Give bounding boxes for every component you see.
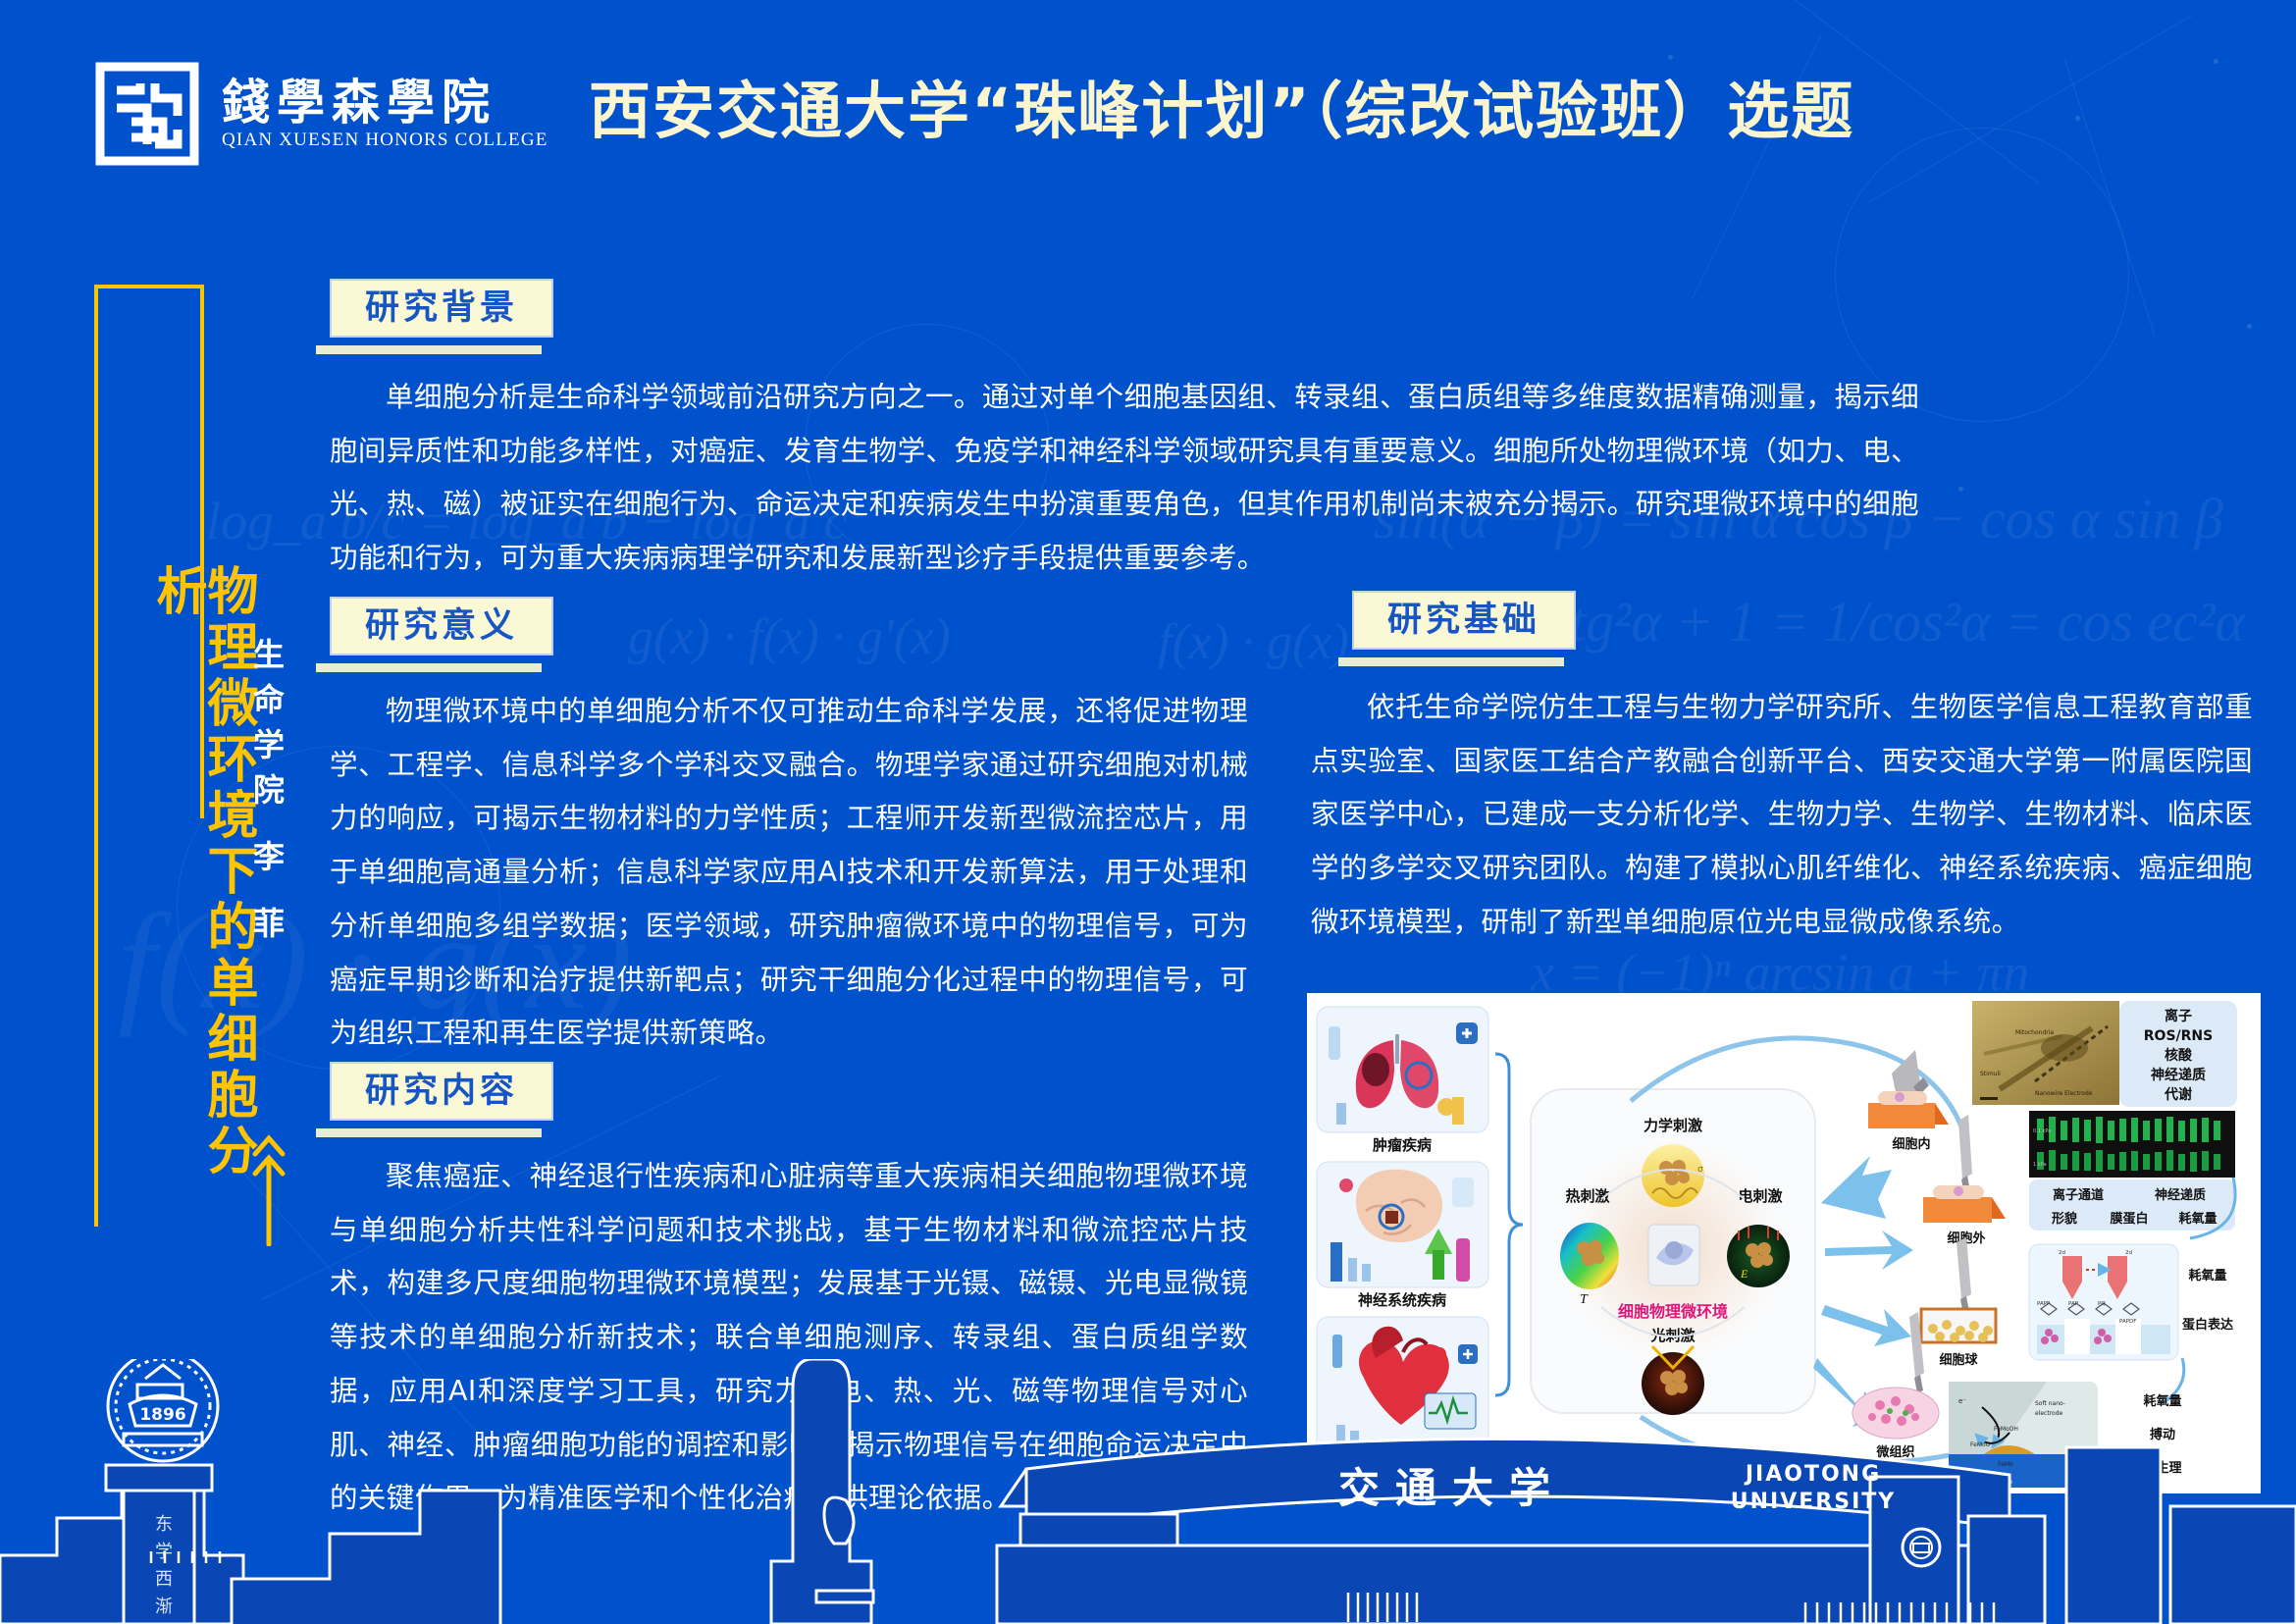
micrograph-extracellular: 0.1 kPa 1 kPa [2029,1111,2235,1178]
section-body-background: 单细胞分析是生命科学领域前沿研究方向之一。通过对单个细胞基因组、转录组、蛋白质组… [330,371,1919,586]
cell-physical-microenvironment-diagram: 肿瘤疾病 神经系统疾病 [1307,993,2261,1493]
svg-text:PAPDF: PAPDF [2119,1319,2136,1325]
section-heading-label: 研究意义 [365,609,518,644]
section-heading-content: 研究内容 [330,1062,553,1121]
readout-item: 膜蛋白 [2110,1211,2148,1227]
section-heading-label: 研究背景 [365,291,518,326]
readout-item: 核酸 [2165,1047,2193,1064]
section-body-content: 聚焦癌症、神经退行性疾病和心脏病等重大疾病相关细胞物理微环境与单细胞分析共性科学… [330,1150,1248,1526]
svg-text:FeMoO: FeMoO [1970,1441,1991,1448]
section-heading-label: 研究内容 [365,1074,518,1109]
disease-label: 神经系统疾病 [1358,1291,1446,1309]
section-heading-label: 研究基础 [1387,603,1540,638]
svg-text:2d: 2d [2125,1250,2132,1256]
stimulus-label-electrical: 电刺激 [1738,1187,1783,1205]
readout-item: 搏动 [2150,1427,2175,1442]
left-vertical-rail: 物理微环境下的单细胞分析 生命学院 李 菲 [94,285,271,1227]
section-heading-background: 研究背景 [330,279,553,338]
xjtu-seal-icon: 1896 [108,1359,218,1461]
qian-xuesen-seal-icon [94,61,200,167]
watermark-formula: tg²α + 1 = 1/cos²α = cos ec²α [1570,589,2245,655]
logo-chinese-name: 錢學森學院 [222,79,548,127]
readout-item: 神经递质 [2155,1187,2206,1203]
section-heading-significance: 研究意义 [330,597,553,655]
svg-text:PAP: PAP [2068,1301,2079,1307]
watermark-formula: f(x) · g(x) [1158,613,1349,671]
disease-card-tumor [1317,1007,1488,1132]
project-title-vertical: 物理微环境下的单细胞分析 [151,564,253,1227]
svg-text:FeMoOH: FeMoOH [1994,1426,2018,1433]
svg-text:Stimuli: Stimuli [1980,1071,2001,1077]
disease-label: 肿瘤疾病 [1373,1136,1432,1154]
readout-item: 耗氧量 [2178,1211,2217,1227]
target-label: 细胞球 [1939,1352,1978,1368]
micrograph-microtissue: Soft nano- electrode FeMoOH FeMoO FeMo M… [1949,1382,2098,1488]
target-label: 细胞内 [1892,1136,1930,1152]
gate-emblem-icon [1903,1529,1940,1566]
college-logo: 錢學森學院 QIAN XUESEN HONORS COLLEGE [94,61,548,167]
section-body-significance: 物理微环境中的单细胞分析不仅可推动生命科学发展，还将促进物理学、工程学、信息科学… [330,685,1248,1061]
readout-item: ROS/RNS [2144,1028,2213,1044]
svg-text:Nanowire Electrode: Nanowire Electrode [2035,1090,2093,1097]
disease-card-cardio [1317,1317,1488,1454]
poster-root: log_a b/c = log_a b − log_a c sin(α − β)… [0,0,2296,1624]
readout-item: 电生理 [2143,1460,2181,1476]
svg-text:FeMo: FeMo [1998,1461,2013,1468]
svg-text:Mitochondria: Mitochondria [2015,1029,2054,1036]
readout-item: 离子 [2165,1008,2192,1024]
micrograph-intracellular: Mitochondria Stimuli Nanowire Electrode [1972,1001,2119,1105]
svg-text:PQ: PQ [2098,1301,2106,1307]
readout-item: 神经递质 [2151,1067,2206,1083]
author-vertical: 生命学院 李 菲 [251,638,283,952]
disease-card-neuro [1317,1162,1488,1287]
micrograph-spheroid: PAPP PAP PQ PAPDF 2d 2d [2029,1244,2178,1360]
stimulus-label-mechanical: 力学刺激 [1644,1117,1703,1134]
svg-text:0.1 kPa: 0.1 kPa [2033,1128,2051,1134]
svg-text:Mouse heart tissue: Mouse heart tissue [1957,1479,2012,1486]
svg-text:2d: 2d [2059,1250,2065,1256]
svg-text:electrode: electrode [2035,1410,2063,1417]
readout-item: 离子通道 [2053,1187,2104,1203]
page-title: 西安交通大学“珠峰计划”（综改试验班）选题 [589,77,2257,147]
svg-text:PAPP: PAPP [2037,1301,2051,1307]
seal-year: 1896 [139,1405,185,1425]
svg-text:e⁻: e⁻ [1958,1397,1966,1405]
logo-english-name: QIAN XUESEN HONORS COLLEGE [222,131,548,149]
svg-text:1 kPa: 1 kPa [2033,1162,2047,1168]
readout-item: 蛋白表达 [2182,1317,2233,1333]
readout-item: 代谢 [2164,1086,2192,1103]
svg-text:Soft nano-: Soft nano- [2035,1400,2065,1407]
double-chevron-up-icon [249,1128,288,1246]
watermark-formula: g(x) · f(x) · g'(x) [628,608,951,666]
disease-label: 心血管疾病 [1365,1458,1438,1476]
poster-header: 錢學森學院 QIAN XUESEN HONORS COLLEGE 西安交通大学“… [0,0,2296,211]
target-label: 微组织 [1875,1444,1914,1460]
section-body-foundation: 依托生命学院仿生工程与生物力学研究所、生物医学信息工程教育部重点实验室、国家医工… [1311,681,2253,950]
readout-item: 耗氧量 [2143,1393,2181,1409]
readout-item: 耗氧量 [2188,1268,2226,1283]
figure-center-label: 细胞物理微环境 [1618,1302,1728,1321]
readout-item: 形貌 [2052,1211,2077,1227]
section-heading-foundation: 研究基础 [1352,591,1576,650]
svg-text:T: T [1580,1292,1589,1307]
seal-motto: 东学西渐 [153,1514,173,1624]
svg-text:E: E [1740,1267,1748,1281]
